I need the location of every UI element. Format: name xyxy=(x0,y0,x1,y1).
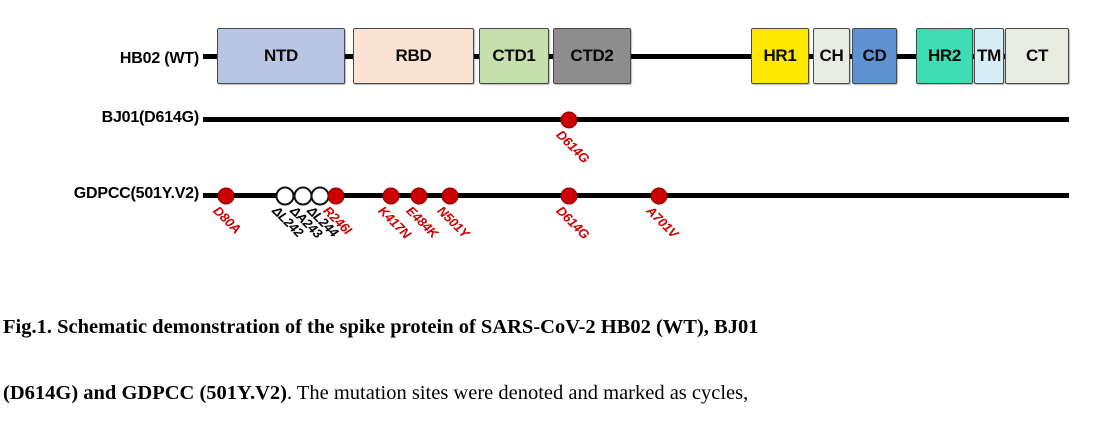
mutation-marker-A701V xyxy=(651,187,668,204)
mutation-marker-D614G xyxy=(561,111,578,128)
row-label-bj01: BJ01(D614G) xyxy=(102,109,199,127)
domain-label-ch: CH xyxy=(820,46,844,66)
mutation-label-D614G: D614G xyxy=(553,127,592,166)
row-label-gdpcc: GDPCC(501Y.V2) xyxy=(74,185,199,203)
domain-box-ct: CT xyxy=(1005,28,1069,84)
mutation-label-D614G: D614G xyxy=(553,203,592,242)
caption-line-2-bold: (D614G) and GDPCC (501Y.V2) xyxy=(3,382,287,404)
domain-label-ntd: NTD xyxy=(264,46,298,66)
domain-box-ctd2: CTD2 xyxy=(553,28,631,84)
domain-box-cd: CD xyxy=(852,28,897,84)
wt-domain-track: NTDRBDCTD1CTD2HR1CHCDHR2TMCT xyxy=(203,28,1069,86)
caption-line-1-bold: Fig.1. Schematic demonstration of the sp… xyxy=(3,316,758,338)
mutation-label-D80A: D80A xyxy=(210,203,244,237)
gdpcc-mutation-track: D80AΔL242ΔA243ΔL244R246IK417NE484KN501YD… xyxy=(203,193,1069,198)
domain-box-hr1: HR1 xyxy=(751,28,809,84)
domain-box-ntd: NTD xyxy=(217,28,345,84)
caption-line-1: Fig.1. Schematic demonstration of the sp… xyxy=(3,317,1099,338)
mutation-marker-R246I xyxy=(328,187,345,204)
domain-label-cd: CD xyxy=(863,46,887,66)
bj01-mutation-track: D614G xyxy=(203,117,1069,122)
caption-line-2: (D614G) and GDPCC (501Y.V2). The mutatio… xyxy=(3,383,1099,404)
domain-box-rbd: RBD xyxy=(353,28,474,84)
mutation-label-A701V: A701V xyxy=(643,203,681,241)
domain-label-ctd1: CTD1 xyxy=(492,46,535,66)
domain-box-hr2: HR2 xyxy=(916,28,973,84)
domain-label-hr2: HR2 xyxy=(928,46,961,66)
mutation-marker-K417N xyxy=(383,187,400,204)
domain-box-ctd1: CTD1 xyxy=(479,28,549,84)
mutation-marker-E484K xyxy=(411,187,428,204)
mutation-marker-D614G xyxy=(561,187,578,204)
row-label-hb02-wt: HB02 (WT) xyxy=(120,50,199,68)
domain-label-hr1: HR1 xyxy=(763,46,796,66)
spike-protein-schematic: HB02 (WT) BJ01(D614G) GDPCC(501Y.V2) NTD… xyxy=(0,0,1102,300)
caption-line-2-rest: . The mutation sites were denoted and ma… xyxy=(287,382,748,404)
bj01-backbone-line xyxy=(203,117,1069,122)
domain-label-tm: TM xyxy=(977,46,1001,66)
mutation-label-N501Y: N501Y xyxy=(434,203,472,241)
domain-label-rbd: RBD xyxy=(396,46,432,66)
mutation-marker-N501Y xyxy=(442,187,459,204)
domain-label-ctd2: CTD2 xyxy=(570,46,613,66)
domain-box-ch: CH xyxy=(813,28,850,84)
domain-box-tm: TM xyxy=(974,28,1004,84)
domain-label-ct: CT xyxy=(1026,46,1048,66)
mutation-marker-delL242 xyxy=(276,186,295,205)
mutation-marker-D80A xyxy=(218,187,235,204)
